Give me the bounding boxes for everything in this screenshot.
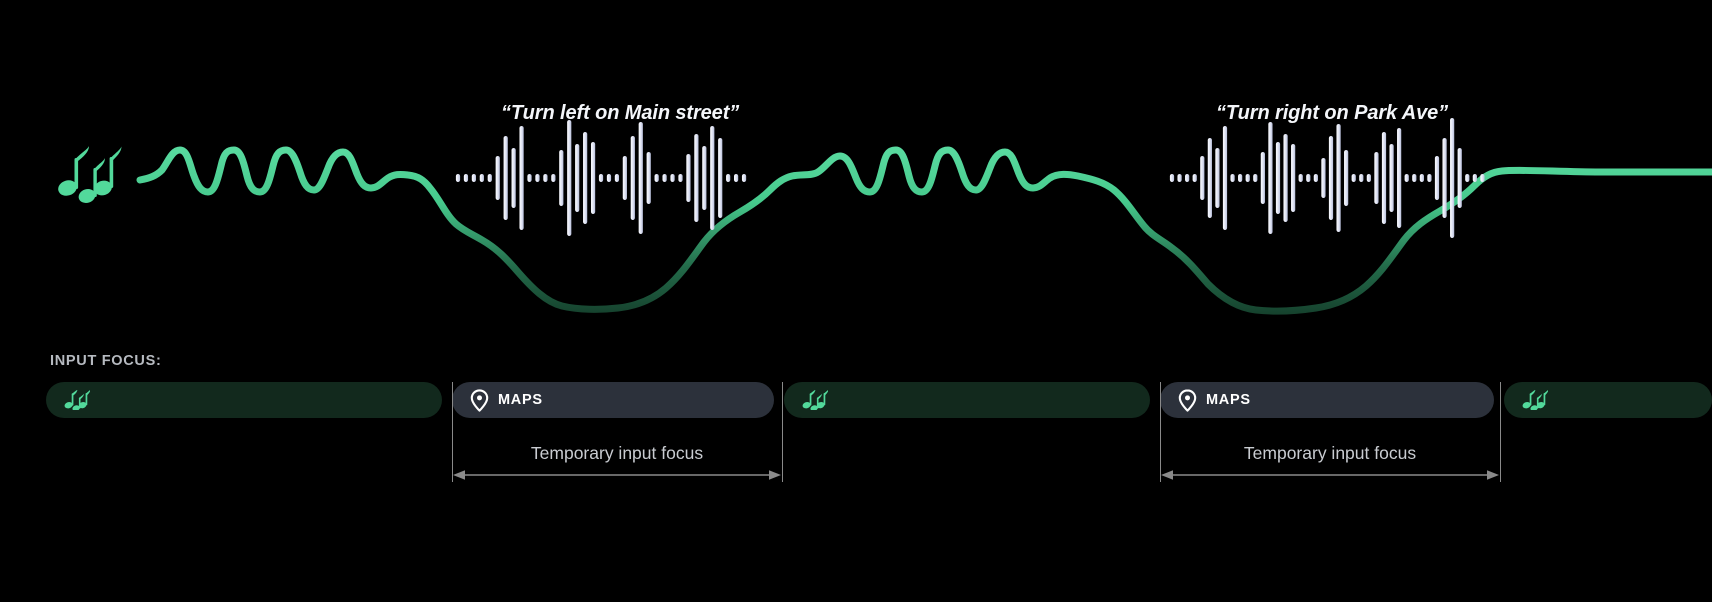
dimension-bracket-right [1500,382,1501,482]
waveform-bar [1367,174,1371,182]
dimension-bracket-right [782,382,783,482]
pill-label: MAPS [1206,392,1251,408]
waveform-bar [1215,148,1219,208]
waveform-bar [1261,152,1265,204]
dimension-double-arrow [1160,468,1500,482]
speech-waveform-turn-right [0,0,1712,340]
waveform-bar [1177,174,1181,182]
input-focus-pill-maps-1[interactable]: MAPS [452,382,774,418]
input-focus-pill-media-2[interactable] [784,382,1150,418]
input-focus-pill-maps-2[interactable]: MAPS [1160,382,1494,418]
waveform-bar [1329,136,1333,220]
waveform-bar [1170,174,1174,182]
waveform-bar [1208,138,1212,218]
waveform-bar [1185,174,1189,182]
dimension-double-arrow [452,468,782,482]
audio-wave-area: “Turn left on Main street” “Turn right o… [0,0,1712,340]
dimension-bracket-left [452,382,453,482]
waveform-bar [1352,174,1356,182]
waveform-bar [1427,174,1431,182]
waveform-bar [1299,174,1303,182]
waveform-bar [1458,148,1462,208]
waveform-bar [1276,142,1280,214]
waveform-bar [1442,138,1446,218]
waveform-bar [1382,132,1386,224]
waveform-bar [1359,174,1363,182]
waveform-bar [1253,174,1257,182]
waveform-bar [1268,122,1272,234]
music-notes-icon [1522,390,1548,410]
waveform-timeline-diagram: “Turn left on Main street” “Turn right o… [0,0,1712,602]
waveform-bar [1397,128,1401,228]
waveform-bar [1223,126,1227,230]
waveform-bar [1405,174,1409,182]
waveform-bar [1473,174,1477,182]
speech-quote-1: “Turn left on Main street” [501,102,739,125]
waveform-bar [1283,134,1287,222]
waveform-bar [1321,158,1325,198]
waveform-bar [1200,156,1204,200]
pill-label: MAPS [498,392,543,408]
map-pin-icon [470,389,489,412]
map-pin-icon [1178,389,1197,412]
waveform-bar [1336,124,1340,232]
waveform-bar [1193,174,1197,182]
waveform-bar [1374,152,1378,204]
waveform-bar [1344,150,1348,206]
waveform-bar [1435,156,1439,200]
input-focus-pill-media-3[interactable] [1504,382,1712,418]
temporary-input-focus-label: Temporary input focus [1160,443,1500,464]
waveform-bar [1314,174,1318,182]
waveform-bar [1389,144,1393,212]
waveform-bar [1412,174,1416,182]
waveform-bar [1420,174,1424,182]
dimension-bracket-left [1160,382,1161,482]
temporary-input-focus-label: Temporary input focus [452,443,782,464]
waveform-bar [1230,174,1234,182]
input-focus-pill-media-1[interactable] [46,382,442,418]
waveform-bar [1480,174,1484,182]
waveform-bar [1450,118,1454,238]
waveform-bar [1238,174,1242,182]
music-notes-icon [64,390,90,410]
waveform-bar [1306,174,1310,182]
input-focus-section-label: INPUT FOCUS: [50,353,162,369]
waveform-bar [1291,144,1295,212]
waveform-bar [1246,174,1250,182]
speech-quote-2: “Turn right on Park Ave” [1216,102,1448,125]
music-notes-icon [802,390,828,410]
waveform-bar [1465,174,1469,182]
